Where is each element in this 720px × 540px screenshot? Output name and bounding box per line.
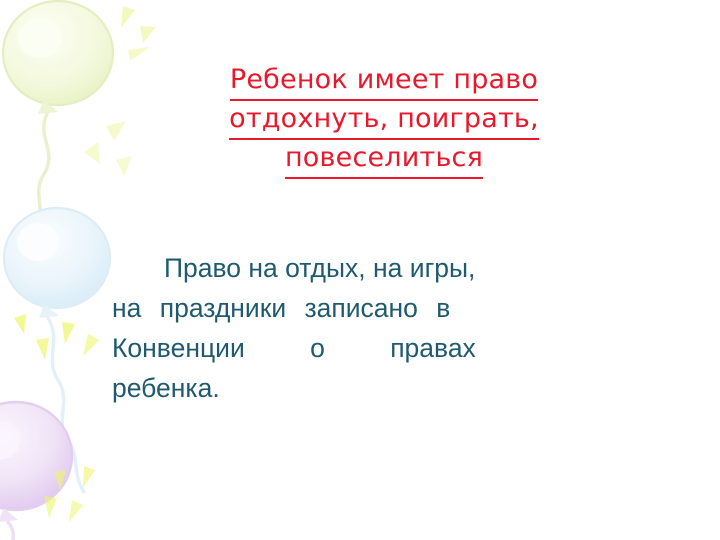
confetti-rays-blue-icon [14, 314, 99, 360]
body-line-2: на праздники записано в [112, 288, 640, 328]
title-line-1: Ребенок имеет право [168, 62, 600, 101]
slide-body: Право на отдых, на игры, на праздники за… [112, 248, 640, 408]
body-paragraph: Право на отдых, на игры, на праздники за… [112, 248, 640, 408]
confetti-rays-green-icon [84, 6, 156, 176]
confetti-rays-lavender-icon [44, 466, 95, 522]
title-line-2-text: отдохнуть, поиграть, [229, 101, 539, 140]
body-line-3: Конвенции о правах [112, 328, 640, 368]
title-line-3: повеселиться [168, 140, 600, 179]
title-line-3-text: повеселиться [285, 140, 483, 179]
title-line-1-text: Ребенок имеет право [230, 62, 538, 101]
body-line-1: Право на отдых, на игры, [112, 248, 640, 288]
balloon-lavender-bottom-left-icon [0, 402, 72, 540]
body-line-4: ребенка. [112, 368, 640, 408]
balloon-green-top-left-icon [3, 1, 113, 284]
title-line-2: отдохнуть, поиграть, [168, 101, 600, 140]
slide-title: Ребенок имеет право отдохнуть, поиграть,… [168, 62, 600, 179]
slide-canvas: Ребенок имеет право отдохнуть, поиграть,… [0, 0, 720, 540]
balloon-blue-middle-left-icon [4, 208, 110, 492]
